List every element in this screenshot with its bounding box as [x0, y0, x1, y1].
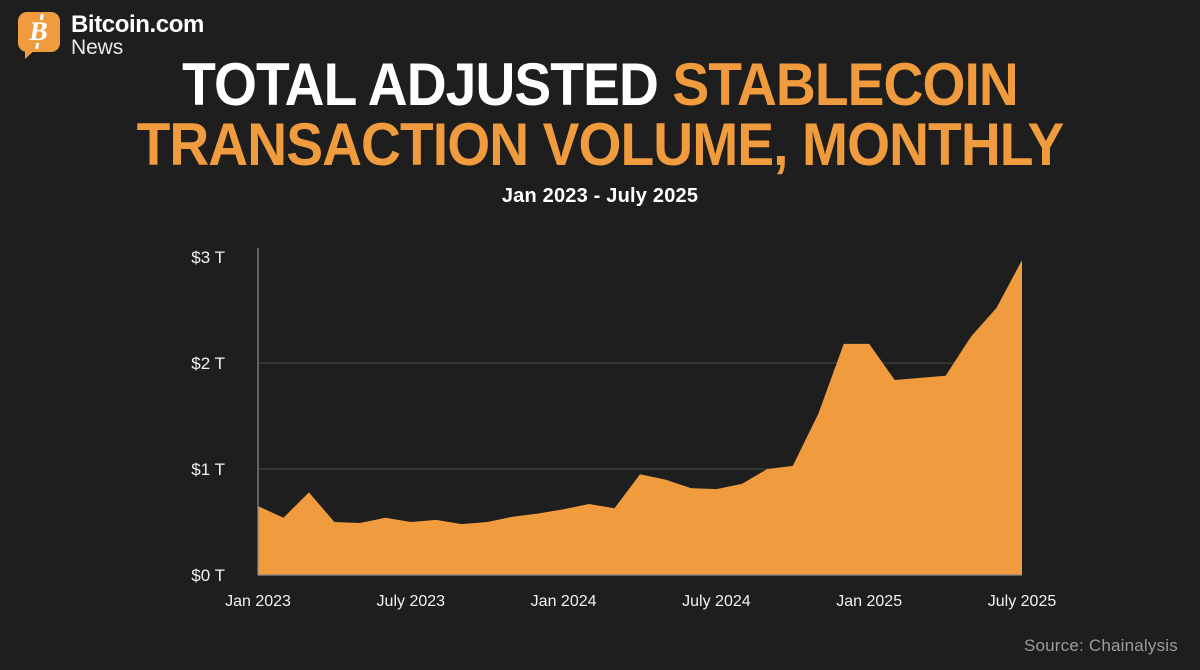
brand-name: Bitcoin.com	[71, 13, 204, 37]
chart-title-part-white: TOTAL ADJUSTED	[182, 51, 672, 118]
chart-title-part-orange: STABLECOIN	[672, 51, 1018, 118]
y-axis-tick-label: $3 T	[191, 248, 225, 267]
x-axis-labels-group: Jan 2023July 2023Jan 2024July 2024Jan 20…	[225, 593, 1056, 610]
y-axis-tick-label: $1 T	[191, 460, 225, 479]
speech-bubble-shape: B	[18, 12, 60, 52]
y-axis-labels-group: $0 T$1 T$2 T$3 T	[191, 248, 225, 585]
chart-title-line-1: TOTAL ADJUSTED STABLECOIN	[48, 56, 1152, 114]
chart-area: $0 T$1 T$2 T$3 T Jan 2023July 2023Jan 20…	[0, 232, 1200, 632]
title-block: TOTAL ADJUSTED STABLECOIN TRANSACTION VO…	[0, 56, 1200, 208]
source-credit: Source: Chainalysis	[1024, 636, 1178, 656]
x-axis-tick-label: July 2025	[988, 593, 1057, 610]
area-series-fill	[258, 260, 1022, 575]
x-axis-tick-label: Jan 2025	[836, 593, 902, 610]
y-axis-tick-label: $2 T	[191, 354, 225, 373]
x-axis-tick-label: Jan 2023	[225, 593, 291, 610]
area-chart: $0 T$1 T$2 T$3 T Jan 2023July 2023Jan 20…	[0, 232, 1200, 632]
infographic-root: B Bitcoin.com News TOTAL ADJUSTED STABLE…	[0, 0, 1200, 670]
x-axis-tick-label: Jan 2024	[531, 593, 597, 610]
chart-subtitle: Jan 2023 - July 2025	[0, 185, 1200, 208]
x-axis-tick-label: July 2023	[377, 593, 446, 610]
brand-logo: B Bitcoin.com News	[18, 12, 204, 60]
x-axis-tick-label: July 2024	[682, 593, 751, 610]
bitcoin-speech-bubble-icon: B	[18, 12, 60, 54]
y-axis-tick-label: $0 T	[191, 566, 225, 585]
chart-title-line-2: TRANSACTION VOLUME, MONTHLY	[48, 116, 1152, 174]
bitcoin-b-glyph: B	[28, 18, 50, 45]
